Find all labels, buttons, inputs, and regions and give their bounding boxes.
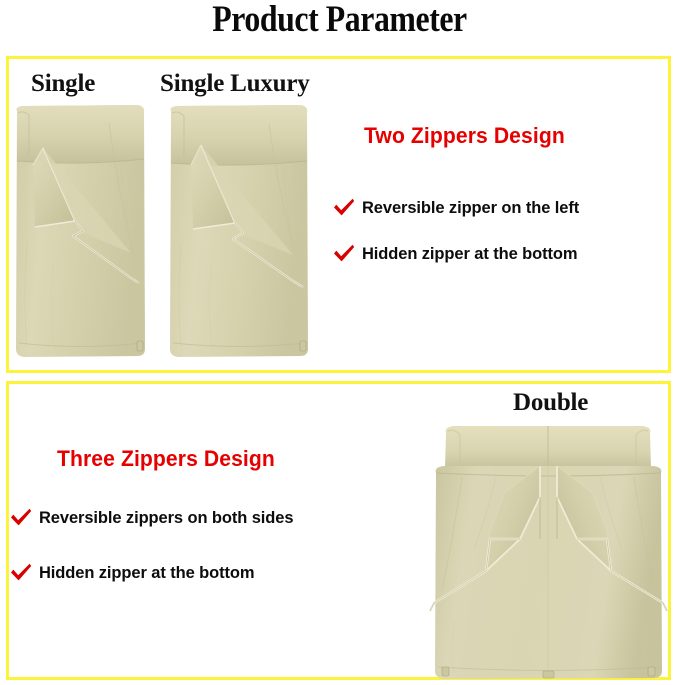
feature-item-reversible-zippers-both-sides: Reversible zippers on both sides xyxy=(9,508,301,528)
feature-item-hidden-zipper-bottom-top-panel: Hidden zipper at the bottom xyxy=(332,244,584,264)
feature-heading-two-zippers: Two Zippers Design xyxy=(364,123,565,149)
feature-text: Hidden zipper at the bottom xyxy=(39,563,254,583)
feature-item-hidden-zipper-bottom-bottom-panel: Hidden zipper at the bottom xyxy=(9,563,261,583)
check-icon xyxy=(332,244,356,264)
product-label-double: Double xyxy=(513,389,588,417)
single-luxury-sleeping-bag-liner-image xyxy=(167,103,311,360)
product-label-single: Single xyxy=(31,70,95,98)
product-label-single-luxury: Single Luxury xyxy=(160,70,310,98)
check-icon xyxy=(9,508,33,528)
single-sleeping-bag-liner-image xyxy=(13,103,148,360)
check-icon xyxy=(9,563,33,583)
double-sleeping-bag-liner-image xyxy=(424,421,673,683)
feature-text: Reversible zipper on the left xyxy=(362,198,579,218)
feature-heading-three-zippers: Three Zippers Design xyxy=(57,446,275,472)
feature-text: Hidden zipper at the bottom xyxy=(362,244,577,264)
feature-item-reversible-zipper-left: Reversible zipper on the left xyxy=(332,198,586,218)
check-icon xyxy=(332,198,356,218)
page-title: Product Parameter xyxy=(48,0,632,42)
feature-text: Reversible zippers on both sides xyxy=(39,508,293,528)
